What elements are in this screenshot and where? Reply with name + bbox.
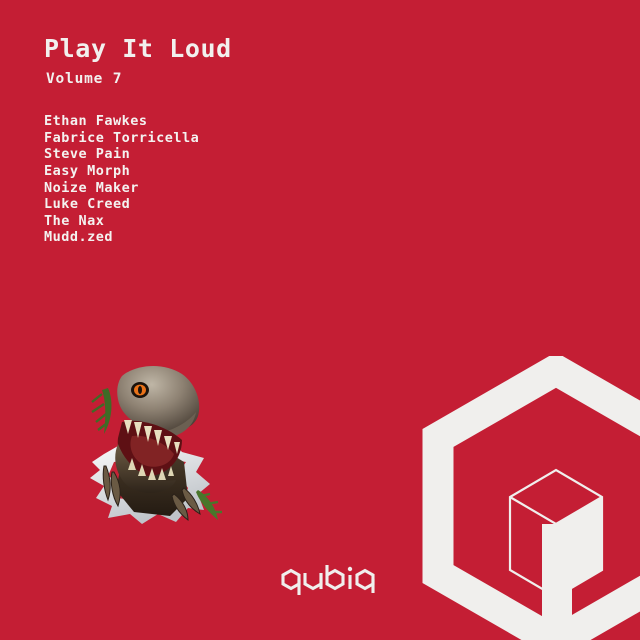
album-title: Play It Loud xyxy=(44,36,464,62)
cube-outline xyxy=(510,470,602,597)
cover-text-block: Play It Loud Volume 7 Ethan Fawkes Fabri… xyxy=(44,36,464,246)
fern-leaf xyxy=(92,388,111,434)
artist-list: Ethan Fawkes Fabrice Torricella Steve Pa… xyxy=(44,113,464,246)
cube-right-face xyxy=(556,497,602,597)
list-item: Easy Morph xyxy=(44,163,464,180)
dino-eye xyxy=(131,382,149,398)
list-item: Ethan Fawkes xyxy=(44,113,464,130)
wordmark-letter-b xyxy=(327,565,343,589)
wordmark-letter-q2 xyxy=(357,571,373,589)
q-hexagon-ring xyxy=(438,370,640,640)
list-item: Noize Maker xyxy=(44,180,464,197)
list-item: The Nax xyxy=(44,213,464,230)
album-cover: Play It Loud Volume 7 Ethan Fawkes Fabri… xyxy=(0,0,640,640)
list-item: Mudd.zed xyxy=(44,229,464,246)
q-tail xyxy=(542,524,572,640)
list-item: Fabrice Torricella xyxy=(44,130,464,147)
qubiq-wordmark xyxy=(272,562,380,602)
qubiq-q-hexagon-cube-logo xyxy=(406,356,640,640)
list-item: Steve Pain xyxy=(44,146,464,163)
wordmark-letter-u xyxy=(305,573,321,589)
dinosaur-artwork xyxy=(78,358,224,526)
wordmark-letter-q1 xyxy=(283,571,299,589)
list-item: Luke Creed xyxy=(44,196,464,213)
wordmark-letter-i-dot xyxy=(348,567,352,571)
album-volume: Volume 7 xyxy=(46,71,464,87)
